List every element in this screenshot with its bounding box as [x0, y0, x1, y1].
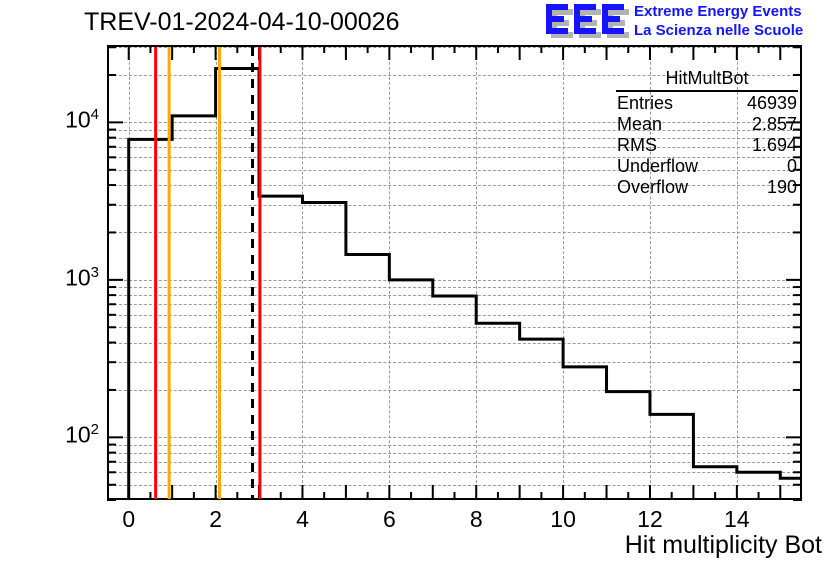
grid-line-horizontal: [109, 232, 800, 233]
grid-line-horizontal: [109, 485, 800, 486]
grid-line-horizontal: [109, 437, 800, 438]
y-axis-tick-label: 104: [65, 106, 99, 134]
grid-line-vertical: [476, 47, 477, 498]
y-axis-tick-label: 102: [65, 421, 99, 449]
grid-line-horizontal: [109, 453, 800, 454]
eee-letter-icon: [602, 4, 626, 40]
grid-line-horizontal: [109, 304, 800, 305]
stats-row-key: Underflow: [617, 156, 698, 177]
x-axis-tick-label: 8: [470, 506, 483, 533]
x-axis-tick-label: 14: [724, 506, 750, 533]
stats-row-value: 190: [767, 177, 797, 198]
stats-row-key: Mean: [617, 114, 662, 135]
stats-row-key: Overflow: [617, 177, 688, 198]
grid-line-vertical: [563, 47, 564, 498]
eee-logo: Extreme Energy Events La Scienza nelle S…: [546, 2, 836, 46]
eee-letter-icon: [546, 4, 570, 40]
page-title: TREV-01-2024-04-10-00026: [84, 8, 399, 37]
stats-row: Underflow0: [614, 156, 800, 177]
grid-line-horizontal: [109, 390, 800, 391]
y-axis-tick-label: 103: [65, 264, 99, 292]
grid-line-horizontal: [109, 327, 800, 328]
grid-line-horizontal: [109, 343, 800, 344]
stats-box-title: HitMultBot: [616, 68, 798, 92]
stats-row-value: 2.857: [752, 114, 797, 135]
x-axis-tick-label: 4: [296, 506, 309, 533]
grid-line-vertical: [389, 47, 390, 498]
eee-logo-text: Extreme Energy Events La Scienza nelle S…: [634, 2, 803, 40]
x-axis-tick-label: 2: [209, 506, 222, 533]
eee-logo-line1: Extreme Energy Events: [634, 2, 803, 21]
x-axis-title: Hit multiplicity Bot: [625, 531, 822, 560]
stats-row-value: 1.694: [752, 135, 797, 156]
eee-logo-line2: La Scienza nelle Scuole: [634, 21, 803, 40]
eee-logo-mark: [546, 4, 630, 42]
stats-row-key: Entries: [617, 93, 673, 114]
root-canvas: TREV-01-2024-04-10-00026: [0, 0, 836, 572]
stats-row-value: 0: [787, 156, 797, 177]
stats-row: RMS1.694: [614, 135, 800, 156]
grid-line-vertical: [302, 47, 303, 498]
eee-letter-icon: [574, 4, 598, 40]
grid-line-horizontal: [109, 445, 800, 446]
stats-row: Entries46939: [614, 93, 800, 114]
x-axis-tick-label: 12: [637, 506, 663, 533]
x-axis-tick-label: 0: [122, 506, 135, 533]
grid-line-horizontal: [109, 472, 800, 473]
grid-line-horizontal: [109, 362, 800, 363]
stats-row: Mean2.857: [614, 114, 800, 135]
stats-row-key: RMS: [617, 135, 657, 156]
grid-line-vertical: [216, 47, 217, 498]
grid-line-horizontal: [109, 47, 800, 48]
stats-box-rows: Entries46939Mean2.857RMS1.694Underflow0O…: [614, 93, 800, 198]
stats-row-value: 46939: [747, 93, 797, 114]
stats-box: HitMultBot Entries46939Mean2.857RMS1.694…: [614, 68, 800, 205]
grid-line-horizontal: [109, 287, 800, 288]
grid-line-horizontal: [109, 315, 800, 316]
grid-line-horizontal: [109, 462, 800, 463]
grid-line-horizontal: [109, 280, 800, 281]
grid-line-vertical: [129, 47, 130, 498]
x-axis-tick-label: 10: [550, 506, 576, 533]
x-axis-tick-label: 6: [383, 506, 396, 533]
grid-line-horizontal: [109, 295, 800, 296]
stats-row: Overflow190: [614, 177, 800, 198]
